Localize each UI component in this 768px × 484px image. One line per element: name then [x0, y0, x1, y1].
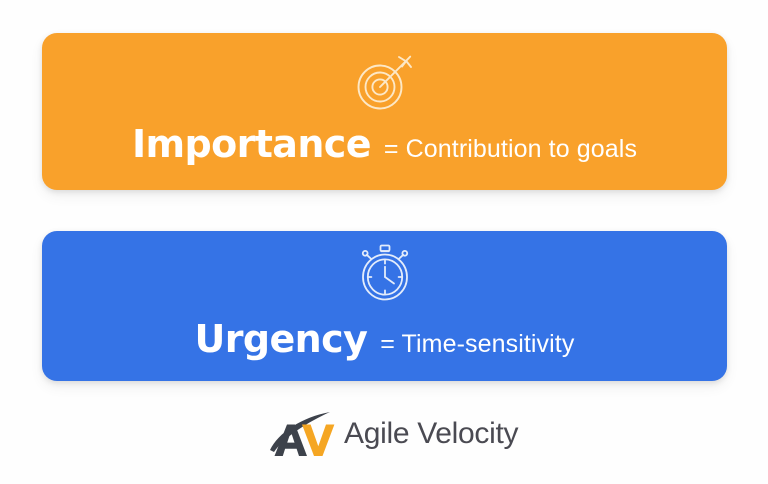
- urgency-card: Urgency = Time-sensitivity: [42, 231, 727, 381]
- infographic-canvas: Importance = Contribution to goals: [0, 0, 768, 484]
- importance-text-row: Importance = Contribution to goals: [42, 125, 727, 163]
- urgency-term: Urgency: [195, 320, 368, 358]
- agile-velocity-wordmark: Agile Velocity: [344, 419, 518, 449]
- importance-term: Importance: [132, 125, 371, 163]
- importance-card: Importance = Contribution to goals: [42, 33, 727, 190]
- stopwatch-icon: [353, 242, 417, 304]
- urgency-text-row: Urgency = Time-sensitivity: [42, 320, 727, 358]
- urgency-definition: = Time-sensitivity: [380, 332, 574, 357]
- target-bullseye-arrow-icon: [354, 54, 416, 112]
- agile-velocity-logo: Agile Velocity: [268, 410, 520, 458]
- importance-definition: = Contribution to goals: [384, 137, 637, 162]
- agile-velocity-logo-mark-icon: [268, 411, 342, 457]
